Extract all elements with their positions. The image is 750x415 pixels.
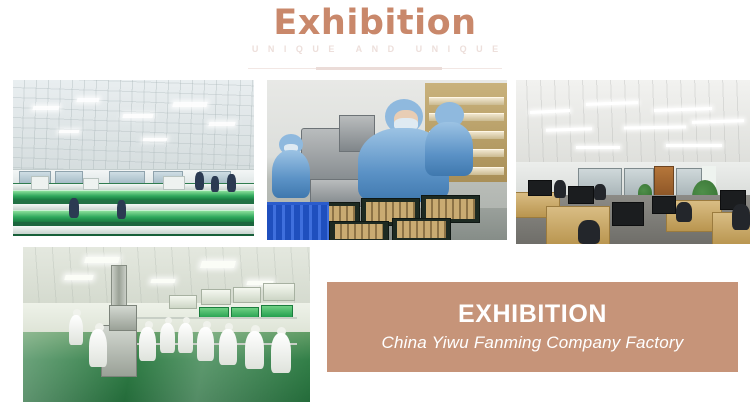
ceiling-light	[64, 275, 93, 280]
worker-coat	[219, 329, 237, 365]
banner-title: EXHIBITION	[458, 299, 607, 329]
photo-cleanroom-packing	[267, 80, 507, 240]
photo-cleanroom-scene	[267, 80, 507, 240]
photo-office-scene	[516, 80, 750, 244]
page-header: Exhibition UNIQUE AND UNIQUE	[0, 0, 750, 76]
ceiling-light	[33, 106, 60, 110]
page-title: Exhibition	[0, 4, 750, 42]
photo-production-scene	[23, 247, 310, 402]
ceiling-light	[172, 102, 207, 107]
equipment-box	[31, 176, 49, 190]
ceiling-light	[150, 279, 175, 283]
monitor	[568, 186, 594, 204]
wall-window	[169, 295, 197, 309]
wooden-door	[654, 166, 674, 198]
ceiling-light	[143, 138, 168, 141]
header-divider-thick	[316, 67, 442, 70]
conveyor-rail	[117, 317, 297, 319]
wall-window	[263, 283, 295, 301]
ceiling-light	[666, 144, 722, 147]
wall-window	[201, 289, 231, 305]
worker-coat	[139, 327, 156, 361]
ceiling-light	[576, 146, 620, 149]
blue-basket	[267, 202, 329, 240]
photo-production-line	[23, 247, 310, 402]
worker-coat	[69, 315, 83, 345]
workbench	[13, 210, 254, 222]
worker-coat	[245, 331, 264, 369]
ceiling-light	[84, 257, 120, 263]
worker	[117, 200, 126, 219]
monitor	[652, 196, 676, 214]
exhibition-page: Exhibition UNIQUE AND UNIQUE	[0, 0, 750, 415]
worker-coat	[160, 323, 175, 353]
worker	[227, 174, 236, 192]
worker-suit	[425, 122, 473, 176]
exhibition-banner: EXHIBITION China Yiwu Fanming Company Fa…	[327, 282, 738, 372]
worker-coat	[178, 323, 193, 353]
office-worker	[676, 202, 692, 222]
product-tray	[392, 218, 452, 240]
worker	[195, 172, 204, 190]
equipment-box	[163, 176, 185, 190]
page-subtitle: UNIQUE AND UNIQUE	[0, 44, 750, 55]
equipment-box	[83, 178, 99, 190]
photo-assembly-hall-scene	[13, 80, 254, 236]
office-worker	[594, 184, 606, 200]
worker-coat	[197, 327, 214, 361]
product-tray	[329, 221, 389, 240]
workbench-top	[13, 226, 254, 234]
worker-suit	[272, 150, 310, 198]
equipment-cart	[109, 305, 137, 331]
monitor	[612, 202, 644, 226]
ceiling-light	[209, 122, 236, 126]
banner-subtitle: China Yiwu Fanming Company Factory	[382, 331, 684, 355]
worker	[69, 198, 79, 218]
office-worker	[578, 220, 600, 244]
ceiling	[13, 80, 254, 177]
worker-coat	[271, 333, 291, 373]
ceiling-light	[59, 130, 80, 133]
photo-assembly-hall	[13, 80, 254, 236]
wall-window	[233, 287, 261, 303]
ceiling-light	[123, 114, 154, 118]
monitor	[528, 180, 552, 196]
ceiling-light	[200, 261, 236, 268]
office-worker	[732, 204, 750, 230]
worker	[211, 176, 219, 192]
photo-open-office	[516, 80, 750, 244]
office-worker	[554, 180, 566, 198]
ceiling-light	[77, 98, 100, 102]
worker-coat	[89, 329, 107, 367]
